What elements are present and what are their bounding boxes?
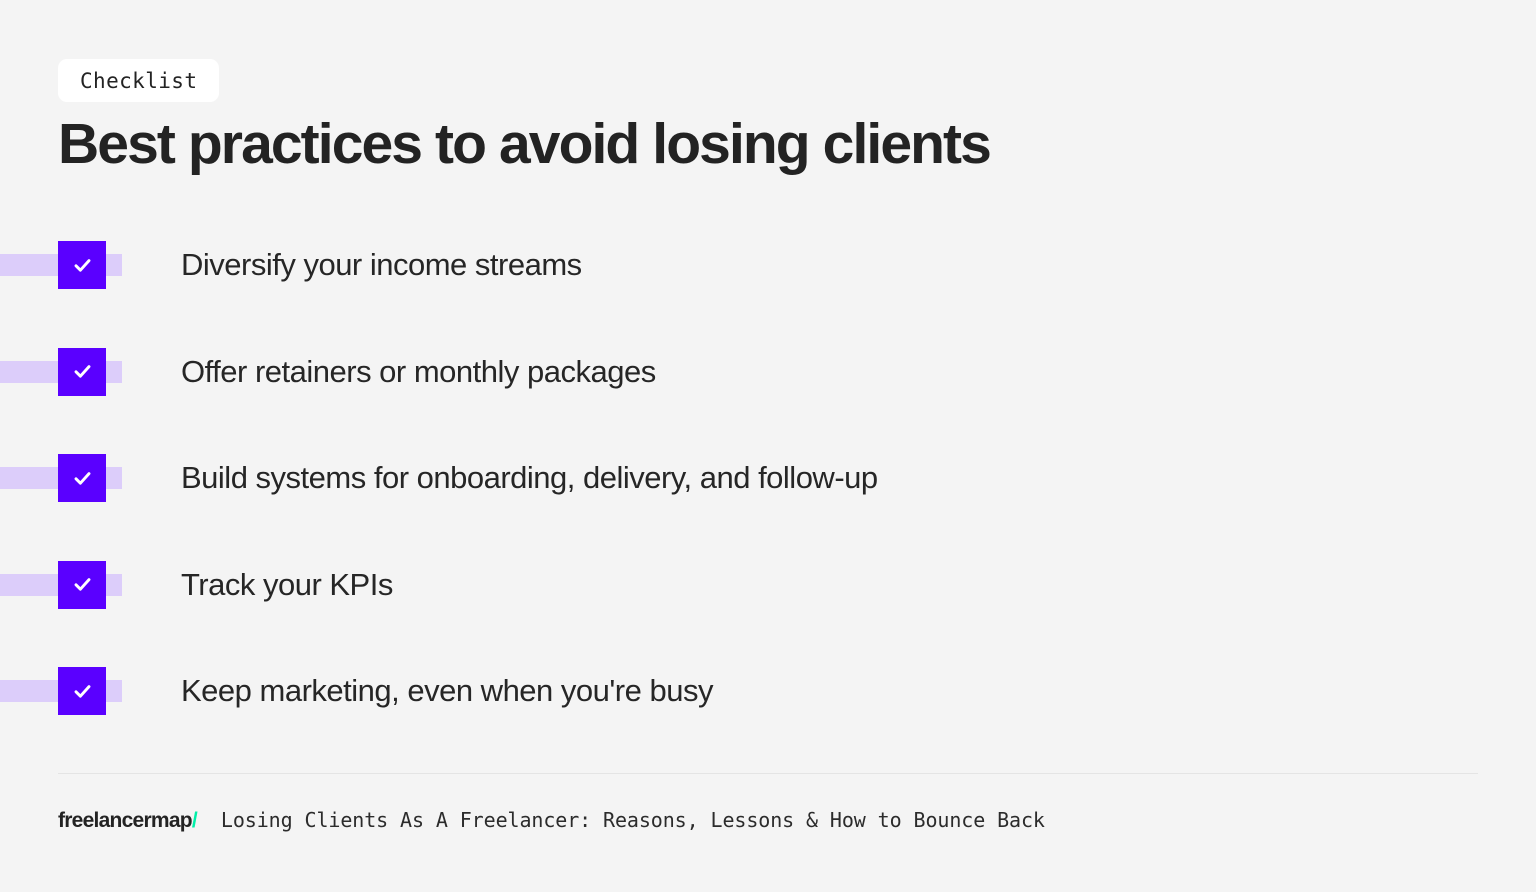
checklist-row[interactable]: Build systems for onboarding, delivery, … xyxy=(0,454,1536,502)
page-title: Best practices to avoid losing clients xyxy=(58,113,1358,177)
footer-divider xyxy=(58,773,1478,774)
checklist-item-label: Offer retainers or monthly packages xyxy=(181,348,656,396)
check-icon xyxy=(73,469,92,488)
checkbox-checked[interactable] xyxy=(58,667,106,715)
checklist-badge-label: Checklist xyxy=(80,69,197,93)
checklist-item-label: Keep marketing, even when you're busy xyxy=(181,667,713,715)
checklist-badge: Checklist xyxy=(58,59,219,102)
checkbox-checked[interactable] xyxy=(58,561,106,609)
check-icon xyxy=(73,575,92,594)
logo-wordmark: freelancermap xyxy=(58,809,192,832)
logo-slash-icon: / xyxy=(192,809,197,832)
checklist-infographic: Checklist Best practices to avoid losing… xyxy=(0,0,1536,892)
checklist-item-label: Build systems for onboarding, delivery, … xyxy=(181,454,878,502)
freelancermap-logo[interactable]: freelancermap/ xyxy=(58,809,197,833)
footer-caption: Losing Clients As A Freelancer: Reasons,… xyxy=(221,808,1045,832)
checklist-row[interactable]: Diversify your income streams xyxy=(0,241,1536,289)
checkbox-checked[interactable] xyxy=(58,348,106,396)
checklist-items: Diversify your income streams Offer reta… xyxy=(0,241,1536,774)
checklist-item-label: Diversify your income streams xyxy=(181,241,582,289)
checklist-row[interactable]: Offer retainers or monthly packages xyxy=(0,348,1536,396)
checkbox-checked[interactable] xyxy=(58,241,106,289)
check-icon xyxy=(73,256,92,275)
checklist-row[interactable]: Track your KPIs xyxy=(0,561,1536,609)
checklist-item-label: Track your KPIs xyxy=(181,561,393,609)
check-icon xyxy=(73,682,92,701)
check-icon xyxy=(73,362,92,381)
checklist-row[interactable]: Keep marketing, even when you're busy xyxy=(0,667,1536,715)
checkbox-checked[interactable] xyxy=(58,454,106,502)
footer: freelancermap/ Losing Clients As A Freel… xyxy=(58,808,1045,833)
